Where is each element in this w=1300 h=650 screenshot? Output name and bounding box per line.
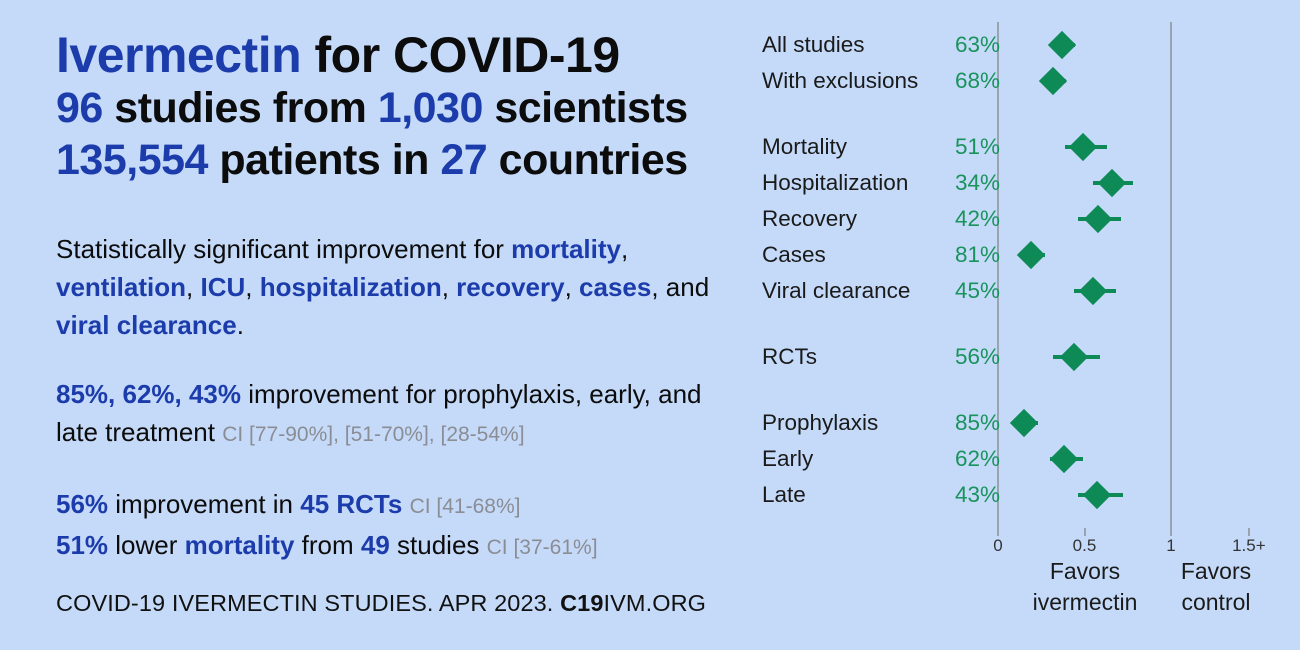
rct-mortality-paragraph: 56% improvement in 45 RCTs CI [41-68%] 5… <box>56 485 746 567</box>
effect-marker <box>1010 409 1038 437</box>
sig-term-ventilation: ventilation <box>56 272 186 302</box>
headline-title-rest: for COVID-19 <box>301 27 620 83</box>
sig-term-viral-clearance: viral clearance <box>56 310 237 340</box>
patients-label: patients in <box>208 136 440 184</box>
mortality-mid-1: lower <box>108 530 185 560</box>
infographic-root: Ivermectin for COVID-19 96 studies from … <box>0 0 1300 650</box>
x-tick-mark <box>1170 528 1172 536</box>
footer-domain: IVM.ORG <box>604 590 707 616</box>
sep-7: . <box>237 310 244 340</box>
x-tick-mark <box>1084 528 1086 536</box>
study-count: 96 <box>56 84 103 132</box>
forest-row-label: Mortality <box>762 132 942 162</box>
forest-row-improvement: 42% <box>944 204 1000 234</box>
effect-marker <box>1069 133 1097 161</box>
x-tick-label: 0.5 <box>1073 536 1097 556</box>
mortality-percentage: 51% <box>56 530 108 560</box>
sig-intro: Statistically significant improvement fo… <box>56 234 511 264</box>
rct-count: 45 RCTs <box>300 489 402 519</box>
forest-row-improvement: 81% <box>944 240 1000 270</box>
x-tick-label: 1 <box>1166 536 1175 556</box>
effect-marker <box>1084 205 1112 233</box>
forest-row: Recovery42% <box>748 204 1300 234</box>
footer-brand: C19 <box>560 590 603 616</box>
forest-row-label: Prophylaxis <box>762 408 942 438</box>
mortality-mid-2: from <box>294 530 360 560</box>
significance-paragraph: Statistically significant improvement fo… <box>56 230 736 344</box>
x-axis-ticks: 00.511.5+ <box>748 528 1300 558</box>
forest-plot-canvas: 00.511.5+ Favorsivermectin Favorscontrol… <box>748 0 1300 650</box>
effect-marker <box>1050 445 1078 473</box>
sig-term-mortality: mortality <box>511 234 621 264</box>
rct-line: 56% improvement in 45 RCTs CI [41-68%] <box>56 485 746 526</box>
forest-row: Viral clearance45% <box>748 276 1300 306</box>
headline-line-3: 135,554 patients in 27 countries <box>56 134 746 186</box>
mortality-term: mortality <box>185 530 295 560</box>
scientists-label: scientists <box>483 84 688 132</box>
forest-row-improvement: 63% <box>944 30 1000 60</box>
effect-marker <box>1017 241 1045 269</box>
forest-row-label: Viral clearance <box>762 276 942 306</box>
effect-marker <box>1079 277 1107 305</box>
footer-text: COVID-19 IVERMECTIN STUDIES. APR 2023. <box>56 590 560 616</box>
forest-row: With exclusions68% <box>748 66 1300 96</box>
forest-row-improvement: 45% <box>944 276 1000 306</box>
forest-row-label: All studies <box>762 30 942 60</box>
forest-row: RCTs56% <box>748 342 1300 372</box>
x-tick-mark <box>1248 528 1250 536</box>
forest-row-improvement: 85% <box>944 408 1000 438</box>
forest-row-improvement: 56% <box>944 342 1000 372</box>
rct-confidence-interval: CI [41-68%] <box>410 495 521 518</box>
forest-row-label: Late <box>762 480 942 510</box>
forest-row-improvement: 43% <box>944 480 1000 510</box>
sep-3: , <box>245 272 259 302</box>
forest-row: Mortality51% <box>748 132 1300 162</box>
mortality-mid-3: studies <box>390 530 487 560</box>
favors-label-word: Favors <box>1136 556 1296 587</box>
forest-row: All studies63% <box>748 30 1300 60</box>
left-panel: Ivermectin for COVID-19 96 studies from … <box>0 0 748 650</box>
sep-5: , <box>565 272 579 302</box>
forest-row: Cases81% <box>748 240 1300 270</box>
headline-block: Ivermectin for COVID-19 96 studies from … <box>56 28 746 186</box>
forest-row-label: RCTs <box>762 342 942 372</box>
effect-marker <box>1098 169 1126 197</box>
rct-percentage: 56% <box>56 489 108 519</box>
sep-6: , and <box>651 272 709 302</box>
forest-row: Prophylaxis85% <box>748 408 1300 438</box>
forest-row-improvement: 51% <box>944 132 1000 162</box>
effect-marker <box>1082 481 1110 509</box>
effect-marker <box>1039 67 1067 95</box>
forest-row: Late43% <box>748 480 1300 510</box>
x-tick-label: 1.5+ <box>1232 536 1266 556</box>
countries-label: countries <box>487 136 688 184</box>
favors-label-word: control <box>1136 587 1296 618</box>
sep-1: , <box>621 234 628 264</box>
x-tick-label: 0 <box>993 536 1002 556</box>
sig-term-cases: cases <box>579 272 651 302</box>
stage-percentages: 85%, 62%, 43% <box>56 379 241 409</box>
sep-4: , <box>442 272 456 302</box>
forest-row-improvement: 34% <box>944 168 1000 198</box>
forest-row-improvement: 62% <box>944 444 1000 474</box>
headline-title-brand: Ivermectin <box>56 27 301 83</box>
patient-count: 135,554 <box>56 136 208 184</box>
forest-row: Early62% <box>748 444 1300 474</box>
forest-row-label: With exclusions <box>762 66 942 96</box>
mortality-line: 51% lower mortality from 49 studies CI [… <box>56 526 746 567</box>
rct-mid-text: improvement in <box>108 489 300 519</box>
forest-row-improvement: 68% <box>944 66 1000 96</box>
headline-line-2: 96 studies from 1,030 scientists <box>56 82 746 134</box>
forest-row-label: Early <box>762 444 942 474</box>
mortality-study-count: 49 <box>361 530 390 560</box>
x-tick-mark <box>997 528 999 536</box>
effect-marker <box>1060 343 1088 371</box>
mortality-confidence-interval: CI [37-61%] <box>487 536 598 559</box>
stage-confidence-intervals: CI [77-90%], [51-70%], [28-54%] <box>222 423 524 446</box>
effect-marker <box>1048 31 1076 59</box>
stage-improvement-paragraph: 85%, 62%, 43% improvement for prophylaxi… <box>56 375 746 454</box>
sig-term-hospitalization: hospitalization <box>260 272 442 302</box>
studies-label: studies from <box>103 84 378 132</box>
forest-plot: 00.511.5+ Favorsivermectin Favorscontrol… <box>748 0 1300 650</box>
country-count: 27 <box>440 136 487 184</box>
sig-term-icu: ICU <box>200 272 245 302</box>
forest-row-label: Cases <box>762 240 942 270</box>
headline-line-1: Ivermectin for COVID-19 <box>56 28 746 82</box>
forest-row-label: Hospitalization <box>762 168 942 198</box>
sep-2: , <box>186 272 200 302</box>
scientist-count: 1,030 <box>378 84 483 132</box>
forest-row: Hospitalization34% <box>748 168 1300 198</box>
favors-control-label: Favorscontrol <box>1136 556 1296 618</box>
footer-attribution: COVID-19 IVERMECTIN STUDIES. APR 2023. C… <box>56 590 706 617</box>
sig-term-recovery: recovery <box>456 272 564 302</box>
forest-row-label: Recovery <box>762 204 942 234</box>
